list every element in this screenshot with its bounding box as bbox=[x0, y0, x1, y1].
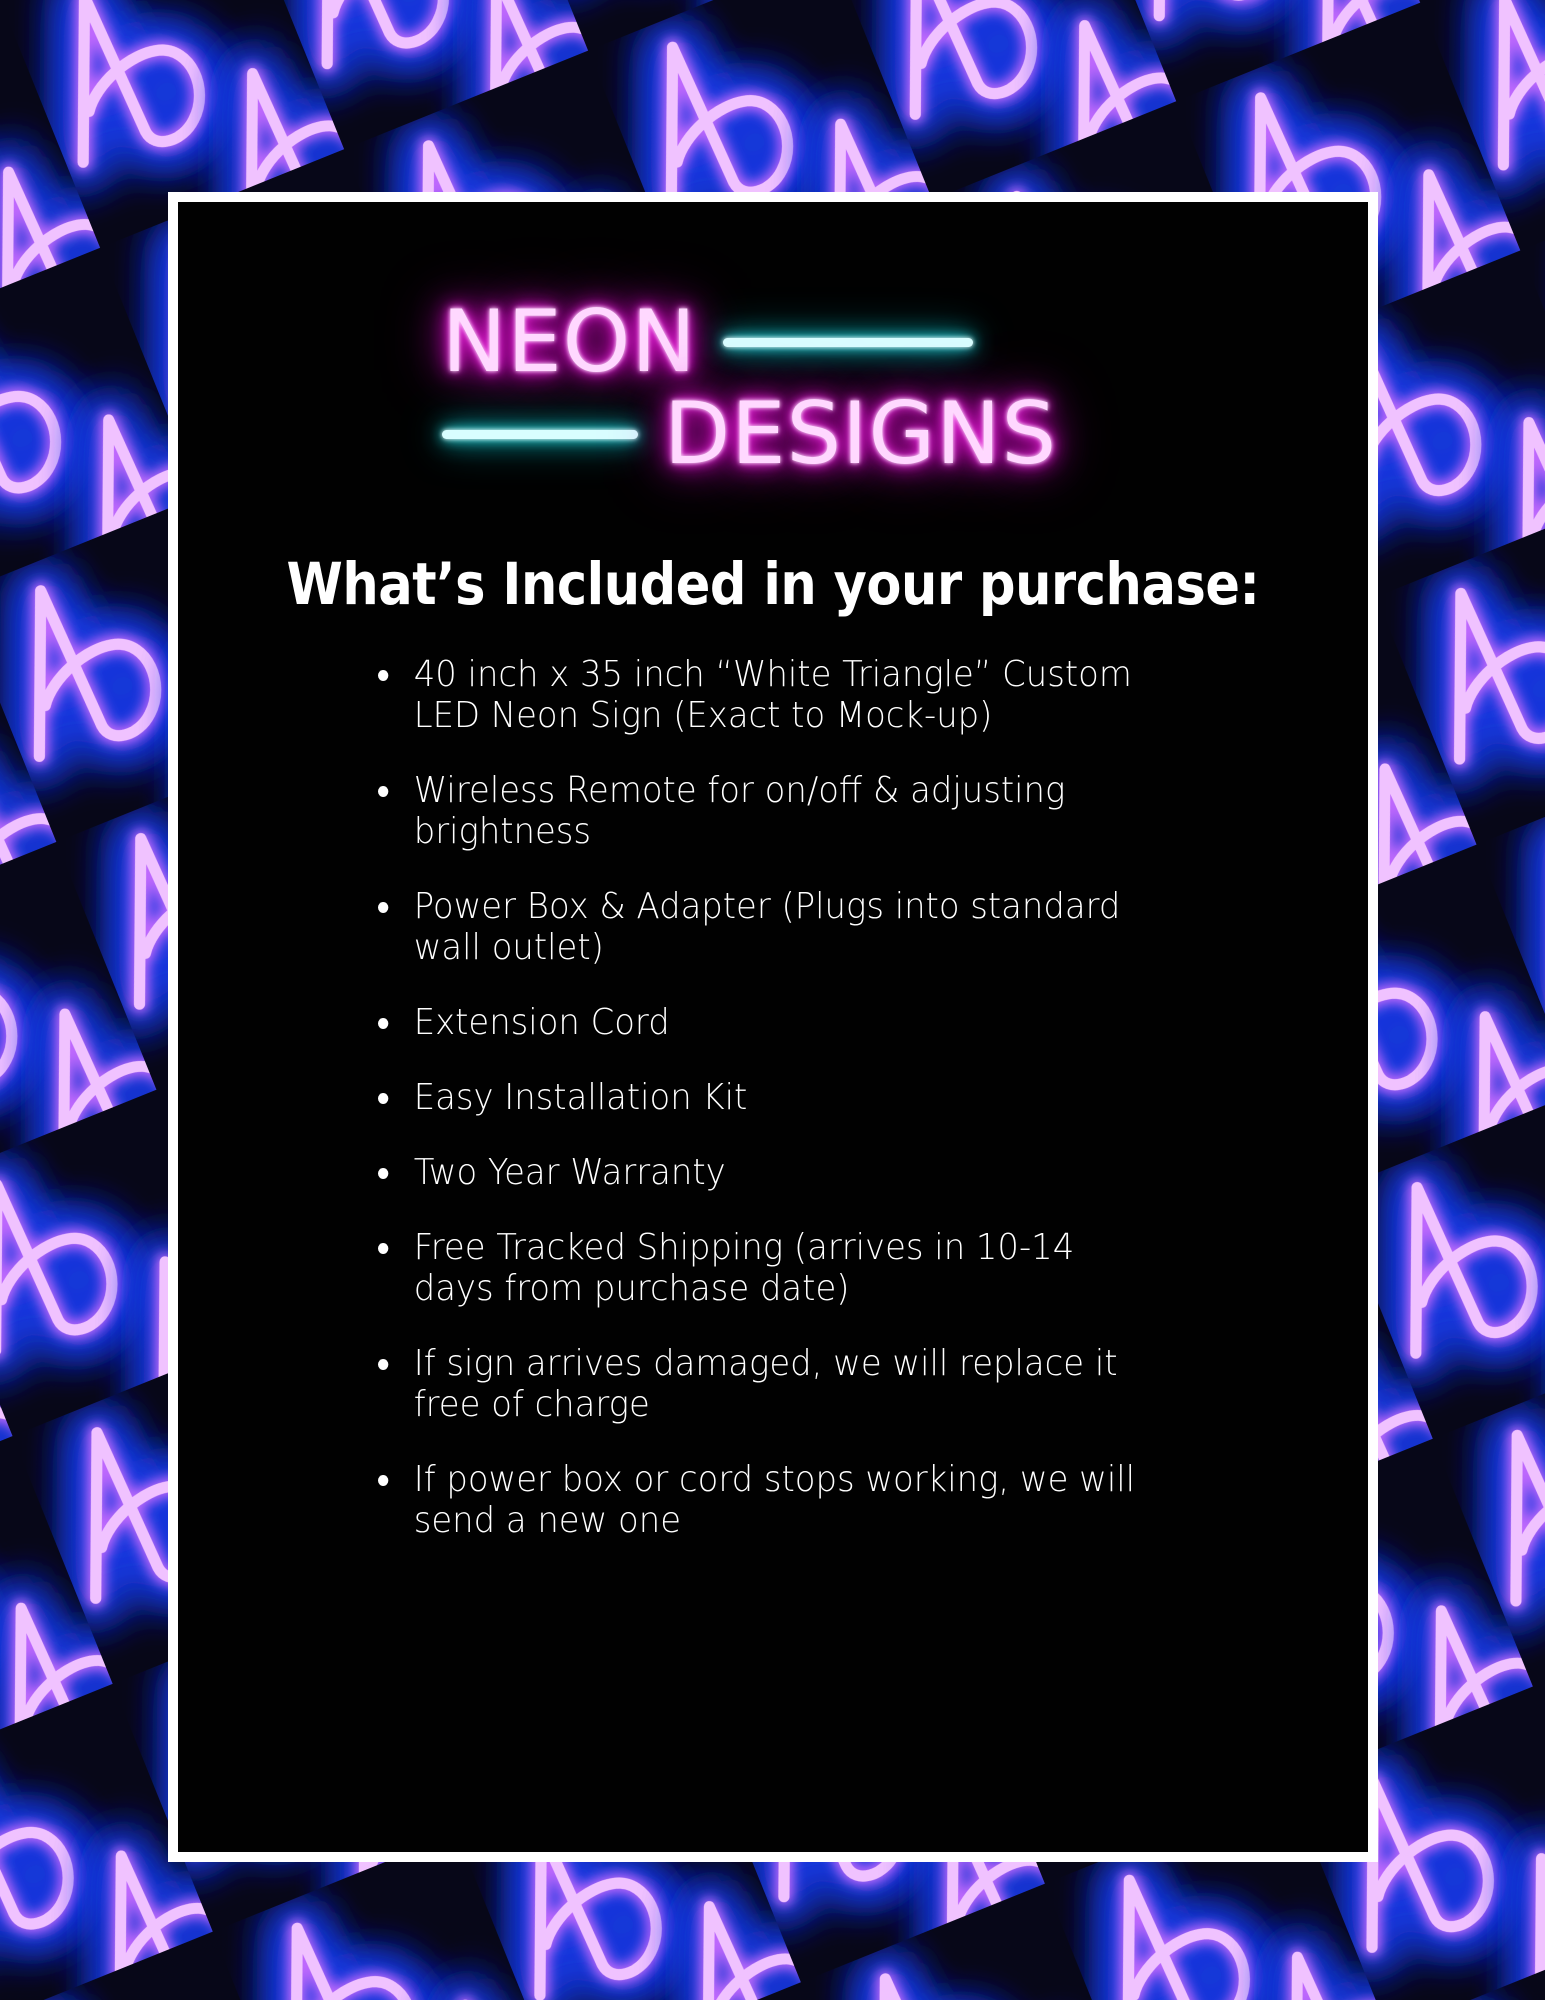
list-item-label: If sign arrives damaged, we will replace… bbox=[414, 1343, 1118, 1425]
list-item: Wireless Remote for on/off & adjusting b… bbox=[378, 770, 1158, 852]
list-item: Two Year Warranty bbox=[378, 1152, 1158, 1193]
list-item-label: Easy Installation Kit bbox=[414, 1077, 748, 1118]
bullet-dot-icon bbox=[378, 1359, 388, 1370]
list-item-label: 40 inch x 35 inch “White Triangle” Custo… bbox=[414, 654, 1132, 736]
content-card-frame: NEON DESIGNS What’s Included in your pur… bbox=[168, 192, 1378, 1862]
bullet-dot-icon bbox=[378, 902, 388, 913]
bullet-dot-icon bbox=[378, 1243, 388, 1254]
list-item-label: Power Box & Adapter (Plugs into standard… bbox=[414, 886, 1121, 968]
list-item-label: Two Year Warranty bbox=[414, 1152, 726, 1193]
list-item-label: Extension Cord bbox=[414, 1002, 670, 1043]
bullet-dot-icon bbox=[378, 1018, 388, 1029]
logo-row-bottom: DESIGNS bbox=[442, 384, 1057, 484]
bullet-dot-icon bbox=[378, 670, 388, 681]
list-item: If sign arrives damaged, we will replace… bbox=[378, 1343, 1158, 1425]
bullet-dot-icon bbox=[378, 1093, 388, 1104]
bullet-dot-icon bbox=[378, 1168, 388, 1179]
logo-row-top: NEON bbox=[442, 292, 973, 392]
bullet-dot-icon bbox=[378, 786, 388, 797]
cyan-bar-top-icon bbox=[723, 338, 973, 347]
bullet-dot-icon bbox=[378, 1475, 388, 1486]
list-item: Extension Cord bbox=[378, 1002, 1158, 1043]
list-item-label: Wireless Remote for on/off & adjusting b… bbox=[414, 770, 1066, 852]
included-items-list: 40 inch x 35 inch “White Triangle” Custo… bbox=[178, 654, 1368, 1541]
page-title: What’s Included in your purchase: bbox=[249, 550, 1296, 618]
list-item-label: Free Tracked Shipping (arrives in 10-14 … bbox=[414, 1227, 1075, 1309]
cyan-bar-bottom-icon bbox=[442, 430, 638, 439]
logo-word-neon: NEON bbox=[442, 292, 697, 392]
content-card: NEON DESIGNS What’s Included in your pur… bbox=[178, 202, 1368, 1852]
list-item: Easy Installation Kit bbox=[378, 1077, 1158, 1118]
list-item-label: If power box or cord stops working, we w… bbox=[414, 1459, 1135, 1541]
list-item: Free Tracked Shipping (arrives in 10-14 … bbox=[378, 1227, 1158, 1309]
logo-word-designs: DESIGNS bbox=[664, 384, 1057, 484]
list-item: 40 inch x 35 inch “White Triangle” Custo… bbox=[378, 654, 1158, 736]
list-item: If power box or cord stops working, we w… bbox=[378, 1459, 1158, 1541]
neon-designs-logo: NEON DESIGNS bbox=[178, 272, 1368, 522]
list-item: Power Box & Adapter (Plugs into standard… bbox=[378, 886, 1158, 968]
